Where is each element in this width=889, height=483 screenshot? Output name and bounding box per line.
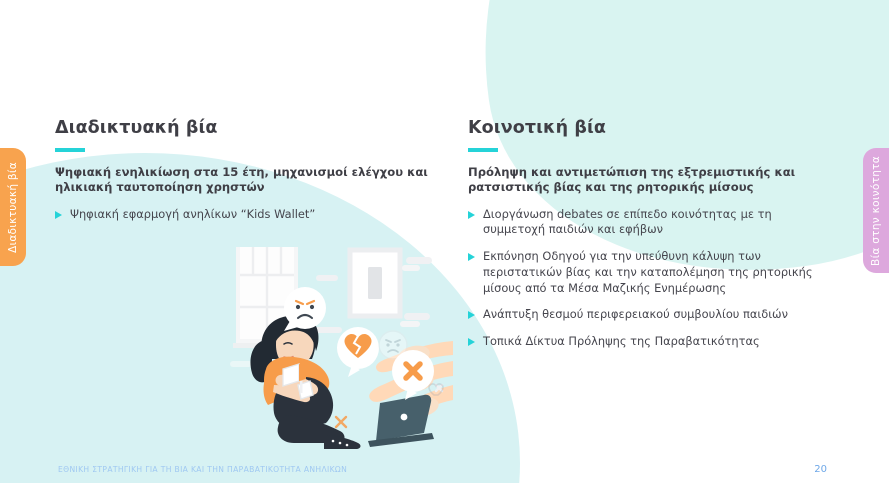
- side-tab-community-violence[interactable]: Βία στην κοινότητα: [863, 148, 889, 273]
- side-tab-right-label: Βία στην κοινότητα: [870, 156, 882, 266]
- triangle-bullet-icon: [55, 211, 62, 219]
- left-column-title: Διαδικτυακή βία: [55, 118, 445, 139]
- column-community-violence: Κοινοτική βία Πρόληψη και αντιμετώπιση τ…: [468, 118, 836, 361]
- bullet-text: Τοπικά Δίκτυα Πρόληψης της Παραβατικότητ…: [483, 334, 760, 350]
- bullet-text: Εκπόνηση Οδηγού για την υπεύθυνη κάλυψη …: [483, 249, 836, 296]
- column-online-violence: Διαδικτυακή βία Ψηφιακή ενηλικίωση στα 1…: [55, 118, 445, 231]
- footer-strategy-title: ΕΘΝΙΚΗ ΣΤΡΑΤΗΓΙΚΗ ΓΙΑ ΤΗ ΒΙΑ ΚΑΙ ΤΗΝ ΠΑΡ…: [58, 465, 347, 474]
- page-number: 20: [814, 464, 827, 475]
- triangle-bullet-icon: [468, 311, 475, 319]
- left-title-underline: [55, 148, 85, 152]
- side-tab-left-label: Διαδικτυακή βία: [7, 162, 19, 253]
- side-tab-online-violence[interactable]: Διαδικτυακή βία: [0, 148, 26, 266]
- left-column-lead: Ψηφιακή ενηλικίωση στα 15 έτη, μηχανισμο…: [55, 165, 445, 196]
- list-item: Ανάπτυξη θεσμού περιφερειακού συμβουλίου…: [468, 307, 836, 323]
- bullet-text: Διοργάνωση debates σε επίπεδο κοινότητας…: [483, 207, 836, 238]
- right-title-underline: [468, 148, 498, 152]
- right-column-bullets: Διοργάνωση debates σε επίπεδο κοινότητας…: [468, 207, 836, 350]
- triangle-bullet-icon: [468, 211, 475, 219]
- right-column-lead: Πρόληψη και αντιμετώπιση της εξτρεμιστικ…: [468, 165, 836, 196]
- left-column-bullets: Ψηφιακή εφαρμογή ανηλίκων “Kids Wallet”: [55, 207, 445, 223]
- list-item: Εκπόνηση Οδηγού για την υπεύθυνη κάλυψη …: [468, 249, 836, 296]
- right-column-title: Κοινοτική βία: [468, 118, 836, 139]
- triangle-bullet-icon: [468, 338, 475, 346]
- slide-canvas: Διαδικτυακή βία Βία στην κοινότητα Διαδι…: [0, 0, 889, 483]
- list-item: Ψηφιακή εφαρμογή ανηλίκων “Kids Wallet”: [55, 207, 445, 223]
- triangle-bullet-icon: [468, 253, 475, 261]
- angry-face-bubble: [284, 287, 326, 331]
- bullet-text: Ψηφιακή εφαρμογή ανηλίκων “Kids Wallet”: [70, 207, 315, 223]
- cyberbullying-illustration: [228, 245, 453, 460]
- list-item: Τοπικά Δίκτυα Πρόληψης της Παραβατικότητ…: [468, 334, 836, 350]
- bullet-text: Ανάπτυξη θεσμού περιφερειακού συμβουλίου…: [483, 307, 788, 323]
- list-item: Διοργάνωση debates σε επίπεδο κοινότητας…: [468, 207, 836, 238]
